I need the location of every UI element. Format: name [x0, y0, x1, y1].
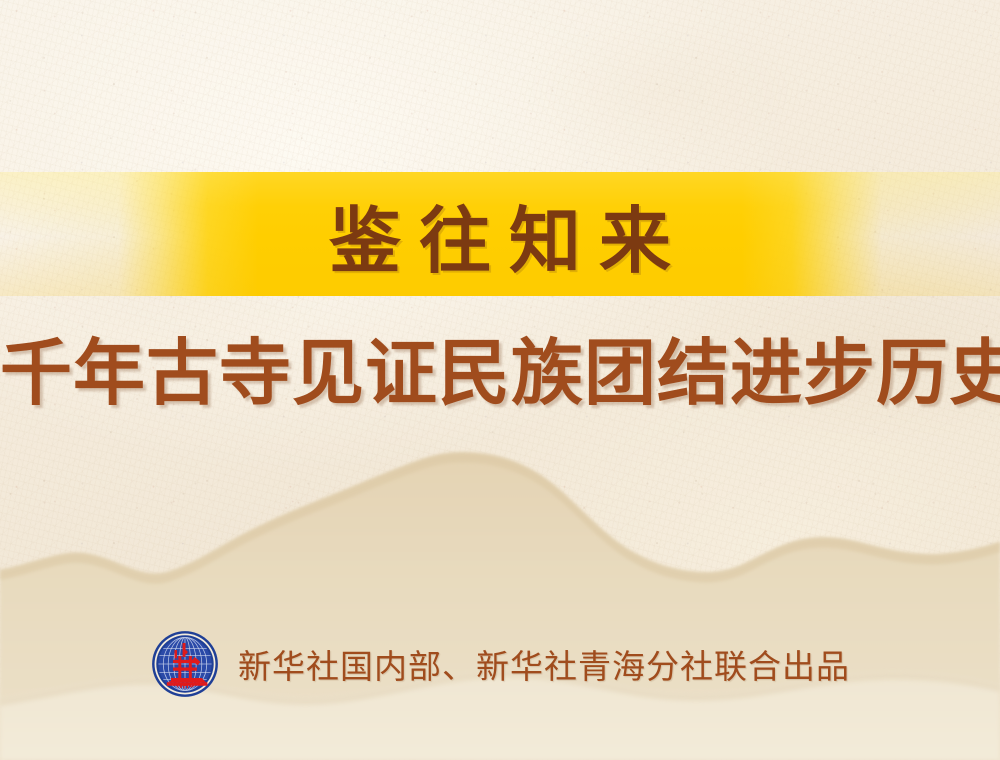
page-title: 千年古寺见证民族团结进步历史 — [0, 336, 1000, 414]
banner-title: 鉴往知来 — [0, 172, 1000, 296]
footer-credit-text: 新华社国内部、新华社青海分社联合出品 — [238, 640, 850, 688]
xinhua-logo-icon: XINHUA — [150, 629, 220, 699]
mountain-silhouette-group — [0, 430, 1000, 760]
footer-credit-bar: XINHUA 新华社国内部、新华社青海分社联合出品 — [0, 626, 1000, 702]
poster-canvas: 鉴往知来 千年古寺见证民族团结进步历史 — [0, 0, 1000, 760]
